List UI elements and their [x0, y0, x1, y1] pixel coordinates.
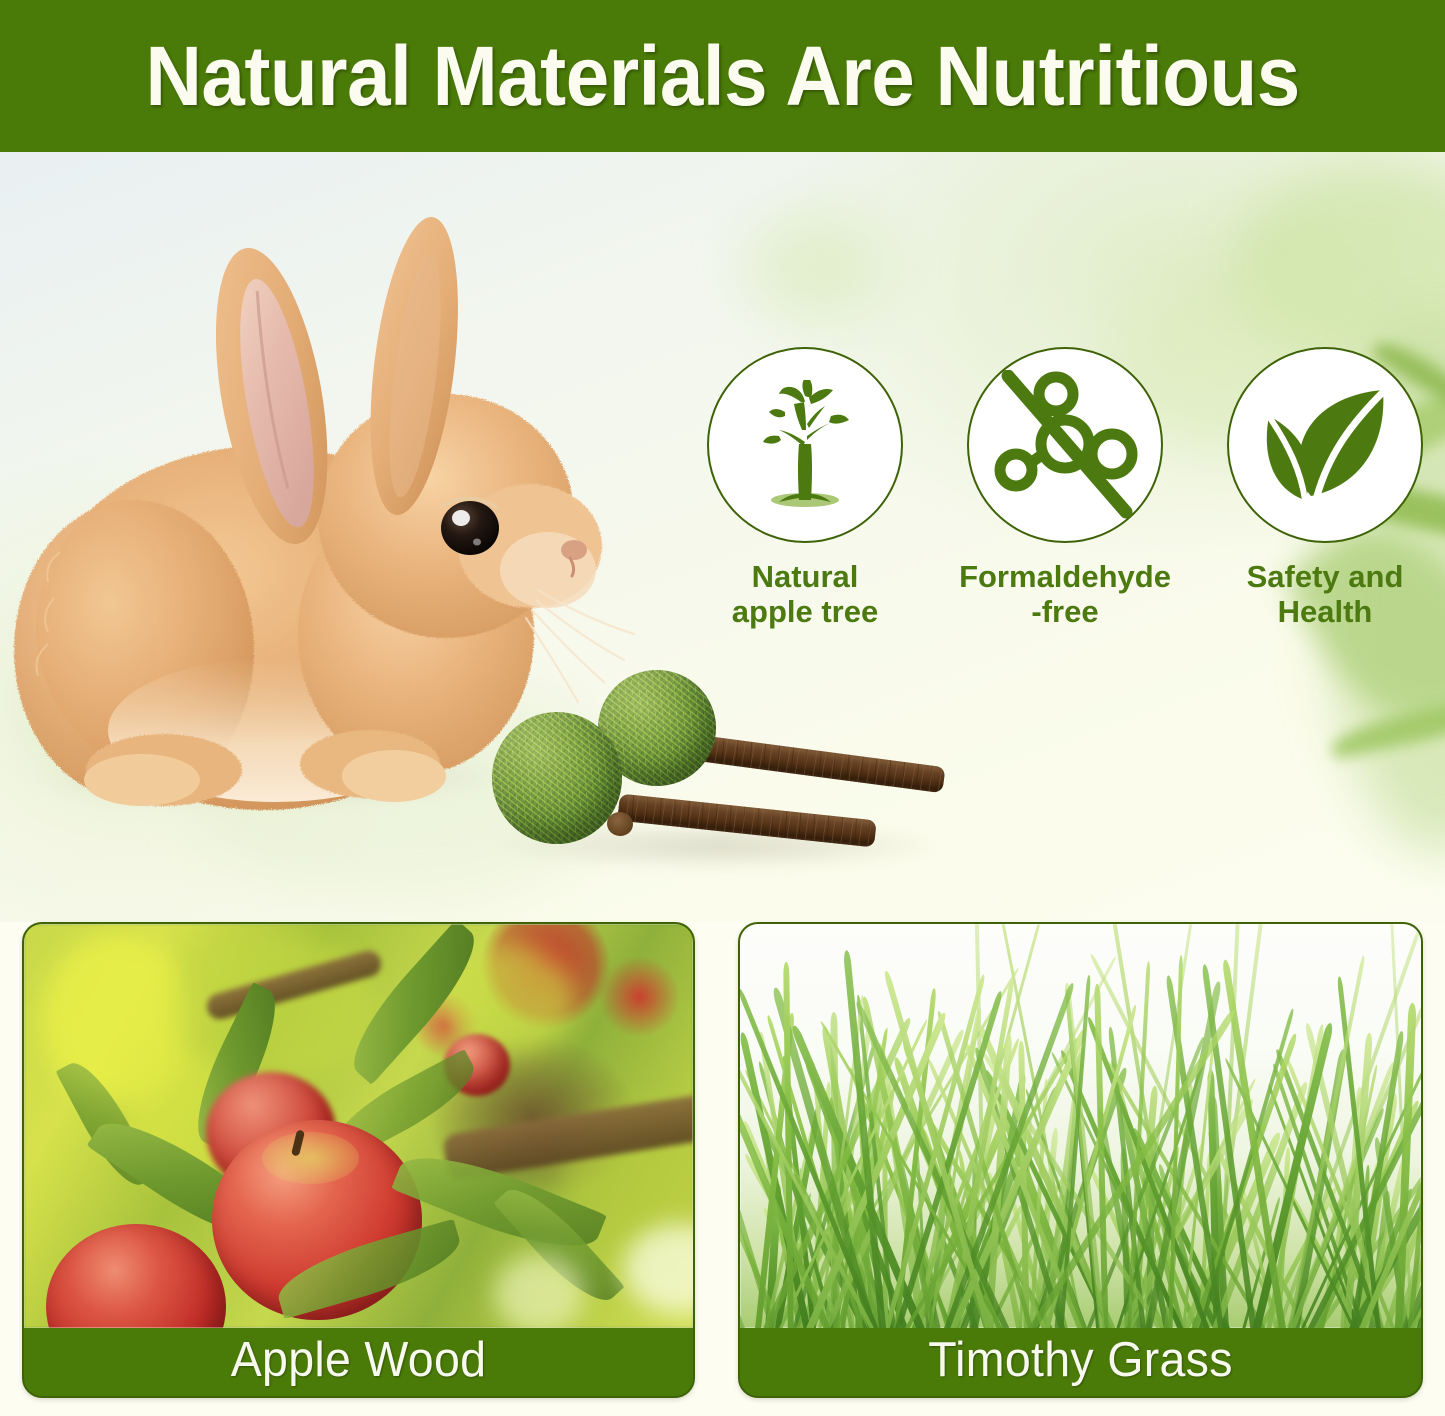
hero-scene: Natural apple tree — [0, 152, 1445, 922]
feature-badges: Natural apple tree — [700, 347, 1430, 629]
infographic-page: Natural Materials Are Nutritious — [0, 0, 1445, 1416]
material-panels: Apple Wood Timothy Grass — [0, 920, 1445, 1416]
badge-natural-apple-tree: Natural apple tree — [700, 347, 910, 629]
apple-tree-icon — [745, 380, 865, 510]
badge-circle — [1227, 347, 1423, 543]
product-photo — [470, 642, 990, 892]
badge-safety-and-health: Safety and Health — [1220, 347, 1430, 629]
formaldehyde-free-icon — [990, 370, 1140, 520]
badge-label: Safety and Health — [1247, 559, 1404, 629]
badge-formaldehyde-free: Formaldehyde -free — [960, 347, 1170, 629]
two-leaves-icon — [1255, 380, 1395, 510]
badge-circle — [707, 347, 903, 543]
badge-label: Natural apple tree — [732, 559, 878, 629]
grass-background — [740, 924, 1421, 1328]
panel-timothy-grass: Timothy Grass — [738, 922, 1423, 1398]
background-bokeh — [745, 212, 885, 322]
orchard-bokeh — [494, 1254, 584, 1328]
page-title: Natural Materials Are Nutritious — [145, 34, 1299, 118]
header-banner: Natural Materials Are Nutritious — [0, 0, 1445, 152]
apple-wood-stick — [617, 794, 876, 848]
badge-circle — [967, 347, 1163, 543]
panel-label-timothy-grass: Timothy Grass — [757, 1324, 1404, 1396]
timothy-grass-ball — [492, 712, 622, 844]
apple-wood-stick — [679, 733, 945, 793]
timothy-grass-photo — [740, 924, 1421, 1328]
apple-orchard-photo — [24, 924, 693, 1328]
panel-apple-wood: Apple Wood — [22, 922, 695, 1398]
panel-label-apple-wood: Apple Wood — [41, 1324, 677, 1396]
badge-label: Formaldehyde -free — [959, 559, 1171, 629]
